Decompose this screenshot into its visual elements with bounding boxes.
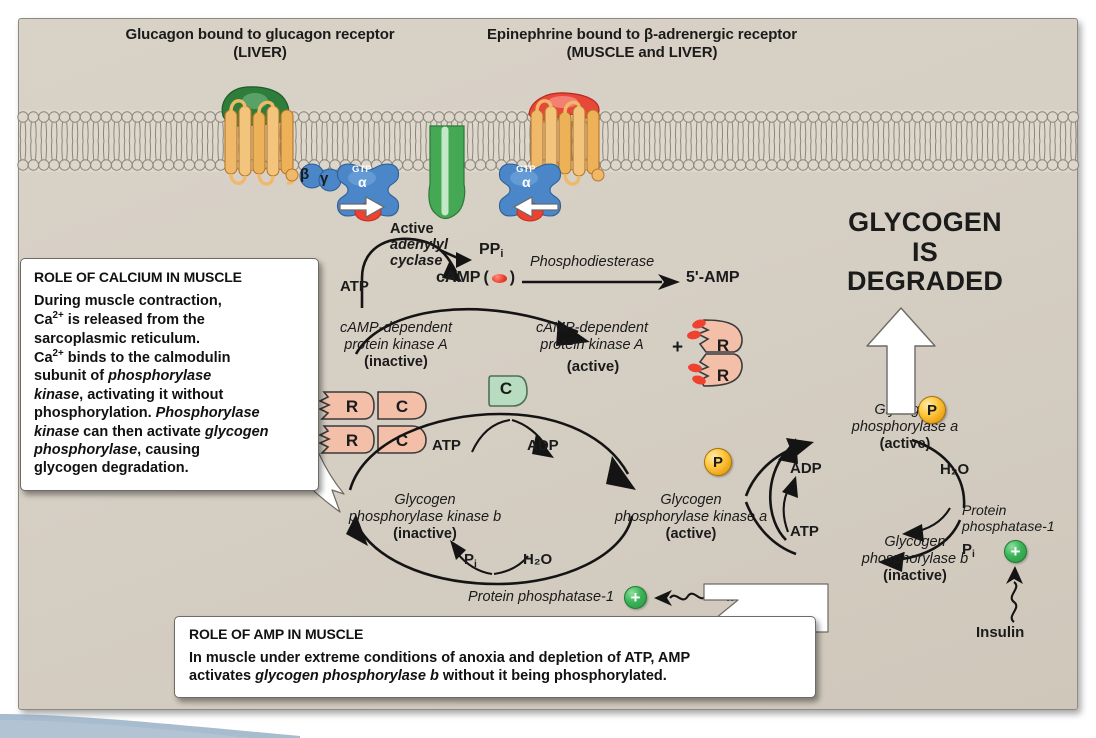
- ppi-text: PP: [479, 241, 500, 258]
- g-alpha-label-right: α: [522, 174, 531, 190]
- phosphate-badge-kinase: P: [704, 448, 732, 476]
- insulin-activation-badge-right: +: [1004, 540, 1027, 563]
- pi-sub-kinase: i: [474, 559, 477, 570]
- pi-label-phosphorylase-cycle: Pi: [962, 541, 975, 558]
- pka-inactive-label: cAMP-dependent protein kinase A (inactiv…: [318, 320, 474, 371]
- heading-epinephrine-line2: (MUSCLE and LIVER): [432, 44, 852, 62]
- pka-active-l2: protein kinase A: [512, 337, 672, 354]
- pi-text-phos: P: [962, 541, 972, 558]
- atp-label-phosphorylase-cycle: ATP: [790, 523, 819, 540]
- camp-paren-close: ): [510, 269, 515, 287]
- pp1-right-l1: Protein: [962, 502, 1006, 518]
- callout-role-of-calcium: ROLE OF CALCIUM IN MUSCLE During muscle …: [20, 258, 319, 491]
- water-label-phosphorylase-cycle: H₂O: [940, 461, 969, 478]
- pi-label-kinase-cycle: Pi: [464, 551, 477, 568]
- atp-label-kinase-cycle: ATP: [432, 437, 461, 454]
- pka-active-l1: cAMP-dependent: [512, 320, 672, 337]
- pka-free-subunit-r-2: R: [712, 366, 734, 386]
- protein-phosphatase-1-label-right: Protein phosphatase-1: [962, 502, 1082, 534]
- pka-active-label: cAMP-dependent protein kinase A: [512, 320, 672, 354]
- pka-active-state: (active): [548, 358, 638, 375]
- camp-node: cAMP ( ): [436, 269, 515, 287]
- outcome-line1: GLYCOGEN: [800, 208, 1050, 238]
- g-beta-label: β: [300, 166, 309, 183]
- calcium-callout-body: During muscle contraction,Ca2+ is releas…: [34, 292, 306, 478]
- callout-role-of-amp: ROLE OF AMP IN MUSCLE In muscle under ex…: [174, 616, 816, 698]
- cyclase-line2: adenylyl: [390, 237, 448, 253]
- glycogen-phosphorylase-b-label: Glycogen phosphorylase b (inactive): [820, 534, 1010, 585]
- gp-b-l2: phosphorylase b: [820, 551, 1010, 568]
- ppi-subscript: i: [500, 248, 503, 260]
- adp-label-phosphorylase-cycle: ADP: [790, 460, 822, 477]
- outcome-line2: IS: [800, 238, 1050, 268]
- gp-a-state: (active): [810, 436, 1000, 453]
- water-label-kinase-cycle: H₂O: [523, 551, 552, 568]
- pi-text-kinase: P: [464, 551, 474, 568]
- amp-callout-body: In muscle under extreme conditions of an…: [189, 649, 801, 686]
- pka-inactive-state: (inactive): [318, 354, 474, 371]
- pka-free-subunit-r-1: R: [712, 336, 734, 356]
- gp-b-l1: Glycogen: [820, 534, 1010, 551]
- g-alpha-label-left: α: [358, 174, 367, 190]
- heading-epinephrine-line1: Epinephrine bound to β-adrenergic recept…: [432, 26, 852, 44]
- ppi-label: PPi: [479, 241, 503, 259]
- insulin-squiggle-arrow-right: [1002, 562, 1028, 626]
- pka-inactive-l2: protein kinase A: [318, 337, 474, 354]
- camp-label: cAMP: [436, 269, 480, 287]
- outcome-text: GLYCOGEN IS DEGRADED: [800, 208, 1050, 297]
- pp1-right-l2: phosphatase-1: [962, 518, 1055, 534]
- protein-phosphatase-1-label-left: Protein phosphatase-1: [468, 589, 614, 605]
- insulin-label-right: Insulin: [976, 624, 1024, 641]
- gp-a-l2: phosphorylase a: [810, 419, 1000, 436]
- heading-epinephrine: Epinephrine bound to β-adrenergic recept…: [432, 26, 852, 63]
- adp-label-kinase-cycle: ADP: [527, 437, 559, 454]
- pi-sub-phos: i: [972, 549, 975, 560]
- camp-paren-open: (: [483, 269, 488, 287]
- g-gamma-label: γ: [320, 170, 328, 187]
- heading-glucagon-line2: (LIVER): [60, 44, 460, 62]
- heading-glucagon-line1: Glucagon bound to glucagon receptor: [60, 26, 460, 44]
- catalytic-subunit-label: C: [494, 378, 518, 400]
- phosphodiesterase-label: Phosphodiesterase: [530, 254, 654, 270]
- adenylyl-cyclase-label: Active adenylyl cyclase: [390, 222, 462, 270]
- decorative-swoosh: [0, 712, 300, 738]
- insulin-activation-badge-left: +: [624, 586, 647, 609]
- gp-b-state: (inactive): [820, 568, 1010, 585]
- camp-molecule-icon: [492, 274, 507, 283]
- amp-callout-title: ROLE OF AMP IN MUSCLE: [189, 626, 801, 642]
- pka-inactive-l1: cAMP-dependent: [318, 320, 474, 337]
- calcium-callout-title: ROLE OF CALCIUM IN MUSCLE: [34, 269, 306, 285]
- amp-product-label: 5'-AMP: [686, 269, 740, 287]
- cyclase-line3: cyclase: [390, 253, 442, 269]
- glycogen-degraded-arrow: [855, 306, 947, 416]
- cyclase-line1: Active: [390, 221, 434, 237]
- g-protein-activation-arrows: [338, 190, 560, 218]
- pka-plus-sign: +: [672, 337, 683, 359]
- heading-glucagon: Glucagon bound to glucagon receptor (LIV…: [60, 26, 460, 63]
- figure-canvas: Glucagon bound to glucagon receptor (LIV…: [0, 0, 1096, 738]
- outcome-line3: DEGRADED: [800, 267, 1050, 297]
